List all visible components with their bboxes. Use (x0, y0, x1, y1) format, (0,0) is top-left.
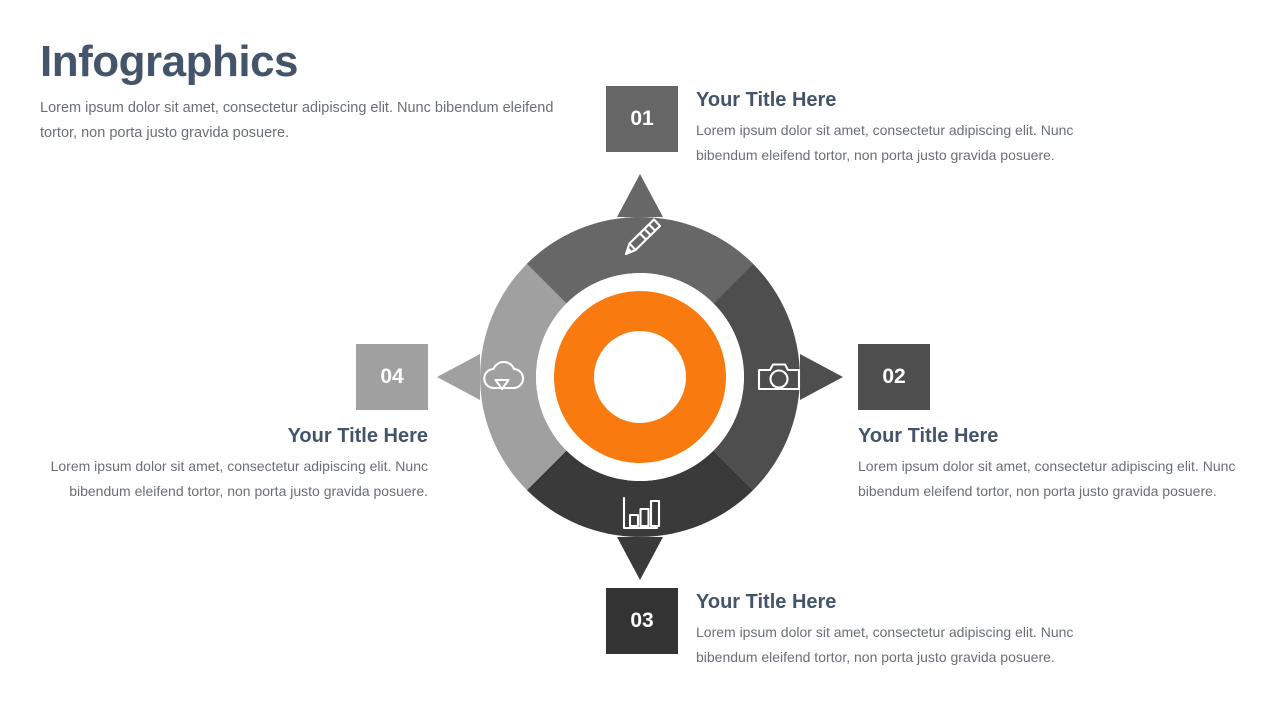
info-block-04-description: Lorem ipsum dolor sit amet, consectetur … (4, 454, 428, 505)
badge-number-02: 02 (858, 344, 930, 410)
badge-number-03: 03 (606, 588, 678, 654)
header: Infographics Lorem ipsum dolor sit amet,… (40, 38, 560, 147)
info-block-03-body: Your Title Here Lorem ipsum dolor sit am… (696, 588, 1106, 671)
circular-diagram (440, 177, 840, 577)
info-block-03[interactable]: 03 Your Title Here Lorem ipsum dolor sit… (606, 588, 1106, 671)
info-block-04-title: Your Title Here (4, 424, 428, 448)
info-block-04[interactable]: 04 Your Title Here Lorem ipsum dolor sit… (4, 344, 428, 505)
info-block-02-description: Lorem ipsum dolor sit amet, consectetur … (858, 454, 1278, 505)
info-block-02-body: Your Title Here Lorem ipsum dolor sit am… (858, 424, 1278, 505)
info-block-01-title: Your Title Here (696, 88, 1106, 112)
badge-number-04: 04 (356, 344, 428, 410)
info-block-03-title: Your Title Here (696, 590, 1106, 614)
info-block-01-body: Your Title Here Lorem ipsum dolor sit am… (696, 86, 1106, 169)
info-block-02[interactable]: 02 Your Title Here Lorem ipsum dolor sit… (858, 344, 1278, 505)
info-block-01[interactable]: 01 Your Title Here Lorem ipsum dolor sit… (606, 86, 1106, 169)
info-block-04-body: Your Title Here Lorem ipsum dolor sit am… (4, 424, 428, 505)
page-title: Infographics (40, 38, 560, 86)
info-block-01-description: Lorem ipsum dolor sit amet, consectetur … (696, 118, 1106, 169)
info-block-03-description: Lorem ipsum dolor sit amet, consectetur … (696, 620, 1106, 671)
info-block-02-title: Your Title Here (858, 424, 1278, 448)
header-description: Lorem ipsum dolor sit amet, consectetur … (40, 96, 560, 148)
badge-number-01: 01 (606, 86, 678, 152)
